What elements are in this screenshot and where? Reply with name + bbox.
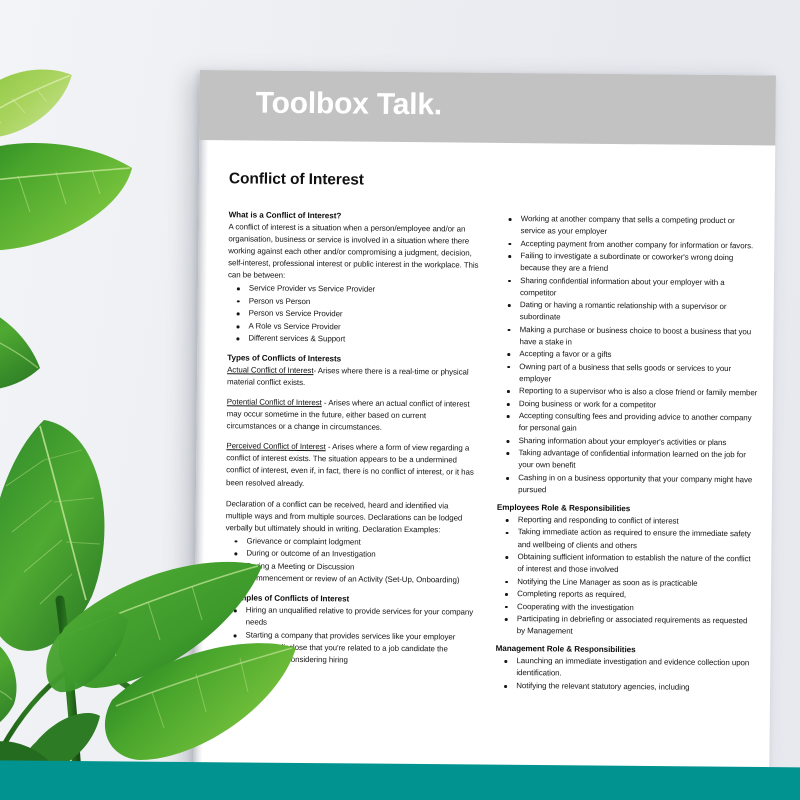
document-page[interactable]: Toolbox Talk. Conflict of Interest What … [193, 70, 776, 800]
paragraph-actual-coi: Actual Conflict of Interest- Arises wher… [227, 365, 478, 391]
paragraph-potential-coi: Potential Conflict of Interest - Arises … [227, 397, 478, 435]
list-item: Launching an immediate investigation and… [495, 655, 756, 682]
list-item: Making a purchase or business choice to … [498, 324, 759, 351]
term-actual-coi: Actual Conflict of Interest [227, 366, 313, 376]
list-item: Different services & Support [227, 333, 478, 347]
section-what-is-coi: What is a Conflict of Interest? A confli… [227, 210, 479, 347]
list-item: Obtaining sufficient information to esta… [496, 551, 757, 578]
page-title: Conflict of Interest [229, 170, 364, 189]
list-item: Participating in debriefing or associate… [496, 613, 757, 640]
list-item: Dating or having a romantic relationship… [499, 299, 760, 326]
list-item: Hiring an unqualified relative to provid… [225, 604, 476, 630]
term-perceived-coi: Perceived Conflict of Interest [226, 442, 325, 452]
paragraph-perceived-coi: Perceived Conflict of Interest - Arises … [226, 441, 478, 491]
list-item: Taking advantage of confidential informa… [497, 447, 758, 474]
list-item: Cashing in on a business opportunity tha… [497, 472, 758, 499]
left-column: What is a Conflict of Interest? A confli… [223, 210, 480, 800]
list-item: Working at another company that sells a … [500, 213, 761, 240]
list-item: Notifying the relevant statutory agencie… [495, 680, 756, 695]
list-item: Accepting consulting fees and providing … [498, 410, 759, 437]
section-employees-role: Employees Role & Responsibilities Report… [496, 503, 758, 640]
list-item: Sharing confidential information about y… [499, 274, 760, 301]
bullet-list-management-role: Launching an immediate investigation and… [495, 655, 756, 694]
section-examples-continued: Working at another company that sells a … [497, 213, 761, 498]
section-examples-of-coi: Examples of Conflicts of Interest Hiring… [224, 593, 476, 668]
list-item: Failing to disclose that you're related … [224, 642, 475, 668]
content-columns: What is a Conflict of Interest? A confli… [223, 210, 761, 800]
section-management-role: Management Role & Responsibilities Launc… [495, 644, 756, 694]
section-declaration: Declaration of a conflict can be receive… [225, 498, 477, 587]
section-body-what-is-coi: A conflict of interest is a situation wh… [228, 221, 480, 283]
footer-bar [0, 760, 800, 800]
list-item: Failing to investigate a subordinate or … [499, 250, 760, 277]
bullet-list-examples-continued: Working at another company that sells a … [497, 213, 761, 498]
section-types-of-coi: Types of Conflicts of Interests Actual C… [226, 354, 478, 492]
page-surface: Toolbox Talk. Conflict of Interest What … [193, 70, 776, 800]
header-title: Toolbox Talk. [256, 87, 443, 123]
paragraph-declaration: Declaration of a conflict can be receive… [226, 498, 477, 536]
list-item: Owning part of a business that sells goo… [498, 361, 759, 388]
bullet-list-declaration-examples: Grievance or complaint lodgment During o… [225, 535, 477, 587]
right-column: Working at another company that sells a … [494, 213, 761, 800]
bullet-list-examples-of-coi: Hiring an unqualified relative to provid… [224, 604, 476, 667]
bullet-list-coi-between: Service Provider vs Service Provider Per… [227, 282, 479, 346]
list-item: Commencement or review of an Activity (S… [225, 572, 476, 586]
list-item: Taking immediate action as required to e… [497, 526, 758, 553]
term-potential-coi: Potential Conflict of Interest [227, 398, 322, 408]
screenshot-canvas: Toolbox Talk. Conflict of Interest What … [0, 0, 800, 800]
bullet-list-employees-role: Reporting and responding to conflict of … [496, 514, 758, 640]
